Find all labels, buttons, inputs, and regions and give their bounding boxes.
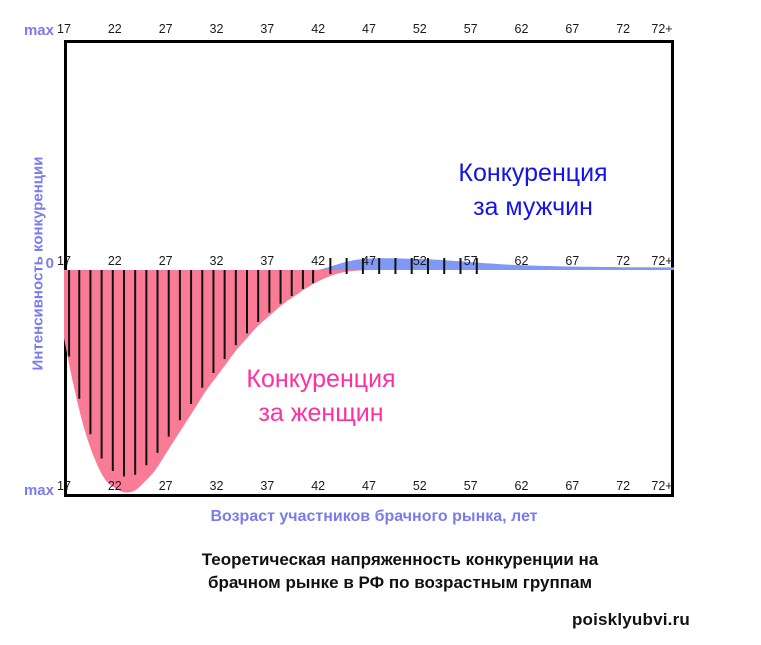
annotation-male-line1: Конкуренция [458,159,607,187]
x-axis-tick-label: 47 [362,20,376,38]
x-axis-tick-label: 22 [108,252,122,270]
x-axis-tick-label: 67 [565,252,579,270]
x-axis-ticks-bottom: 17222732374247525762677272+ [64,477,674,495]
x-axis-tick-label: 17 [57,20,71,38]
x-axis-tick-label: 32 [210,252,224,270]
x-axis-tick-label: 42 [311,477,325,495]
x-axis-tick-label: 67 [565,20,579,38]
x-axis-tick-label: 72+ [651,252,672,270]
x-axis-tick-label: 27 [159,252,173,270]
x-axis-tick-label: 37 [260,252,274,270]
x-axis-tick-label: 47 [362,252,376,270]
x-axis-tick-label: 22 [108,477,122,495]
x-axis-tick-label: 17 [57,477,71,495]
annotation-female-competition: Конкуренция за женщин [196,363,446,430]
x-axis-tick-label: 57 [464,477,478,495]
chart-root: Интенсивность конкуренции max 0 max 1722… [0,0,761,645]
y-axis-label-bottom: max [8,482,54,499]
x-axis-tick-label: 72 [616,477,630,495]
x-axis-tick-label: 47 [362,477,376,495]
x-axis-tick-label: 72+ [651,20,672,38]
x-axis-tick-label: 37 [260,477,274,495]
x-axis-tick-label: 42 [311,252,325,270]
caption-line-1: Теоретическая напряженность конкуренции … [110,548,690,571]
watermark-site: poisklyubvi.ru [400,610,690,630]
x-axis-tick-label: 32 [210,477,224,495]
x-axis-tick-label: 57 [464,252,478,270]
x-axis-tick-label: 62 [515,20,529,38]
annotation-female-line1: Конкуренция [246,365,395,393]
x-axis-ticks-middle: 17222732374247525762677272+ [64,252,674,270]
x-axis-tick-label: 27 [159,477,173,495]
x-axis-ticks-top: 17222732374247525762677272+ [64,20,674,38]
x-axis-tick-label: 52 [413,252,427,270]
x-axis-tick-label: 72 [616,252,630,270]
x-axis-tick-label: 52 [413,20,427,38]
x-axis-tick-label: 22 [108,20,122,38]
x-axis-tick-label: 17 [57,252,71,270]
x-axis-tick-label: 72+ [651,477,672,495]
y-axis-label-top: max [8,22,54,39]
x-axis-title: Возраст участников брачного рынка, лет [64,508,684,526]
x-axis-tick-label: 37 [260,20,274,38]
chart-caption: Теоретическая напряженность конкуренции … [110,548,690,595]
x-axis-tick-label: 57 [464,20,478,38]
caption-line-2: брачном рынке в РФ по возрастным группам [110,571,690,594]
annotation-male-line2: за мужчин [473,193,593,221]
x-axis-tick-label: 72 [616,20,630,38]
annotation-female-line2: за женщин [258,399,383,427]
x-axis-tick-label: 32 [210,20,224,38]
x-axis-tick-label: 42 [311,20,325,38]
annotation-male-competition: Конкуренция за мужчин [398,157,668,224]
x-axis-tick-label: 62 [515,477,529,495]
y-axis-label-zero: 0 [8,255,54,272]
x-axis-tick-label: 52 [413,477,427,495]
x-axis-tick-label: 67 [565,477,579,495]
x-axis-tick-label: 27 [159,20,173,38]
x-axis-tick-label: 62 [515,252,529,270]
